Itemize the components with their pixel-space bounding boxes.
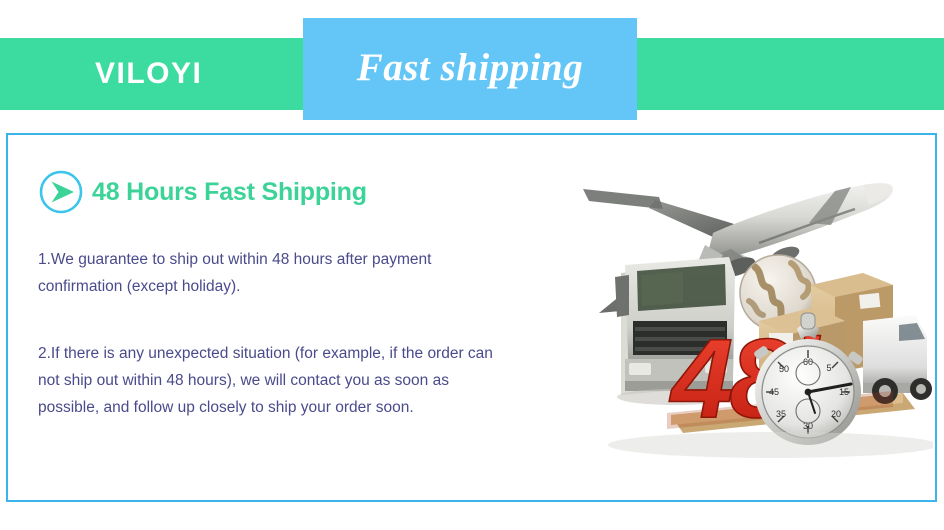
paragraph-1: 1.We guarantee to ship out within 48 hou… [38,246,508,300]
headline-blue-box: Fast shipping [303,18,637,120]
brand-logo-text: VILOYI [95,55,202,93]
headline-text: Fast shipping [303,18,637,120]
content-panel: 48 Hours Fast Shipping 1.We guarantee to… [6,133,937,502]
svg-text:15: 15 [839,387,849,397]
svg-text:45: 45 [769,387,779,397]
arrow-right-circle-icon [38,169,84,215]
shipping-logistics-photo: 48h [563,145,933,490]
svg-text:5: 5 [826,363,831,373]
svg-text:50: 50 [779,364,789,374]
svg-text:35: 35 [776,409,786,419]
section-heading: 48 Hours Fast Shipping [38,168,538,216]
svg-text:20: 20 [831,409,841,419]
delivery-van-graphic [863,315,932,404]
section-heading-text: 48 Hours Fast Shipping [92,178,367,207]
top-banner: VILOYI Fast shipping [0,0,944,133]
text-column: 48 Hours Fast Shipping 1.We guarantee to… [38,168,538,421]
paragraph-2: 2.If there is any unexpected situation (… [38,340,508,421]
